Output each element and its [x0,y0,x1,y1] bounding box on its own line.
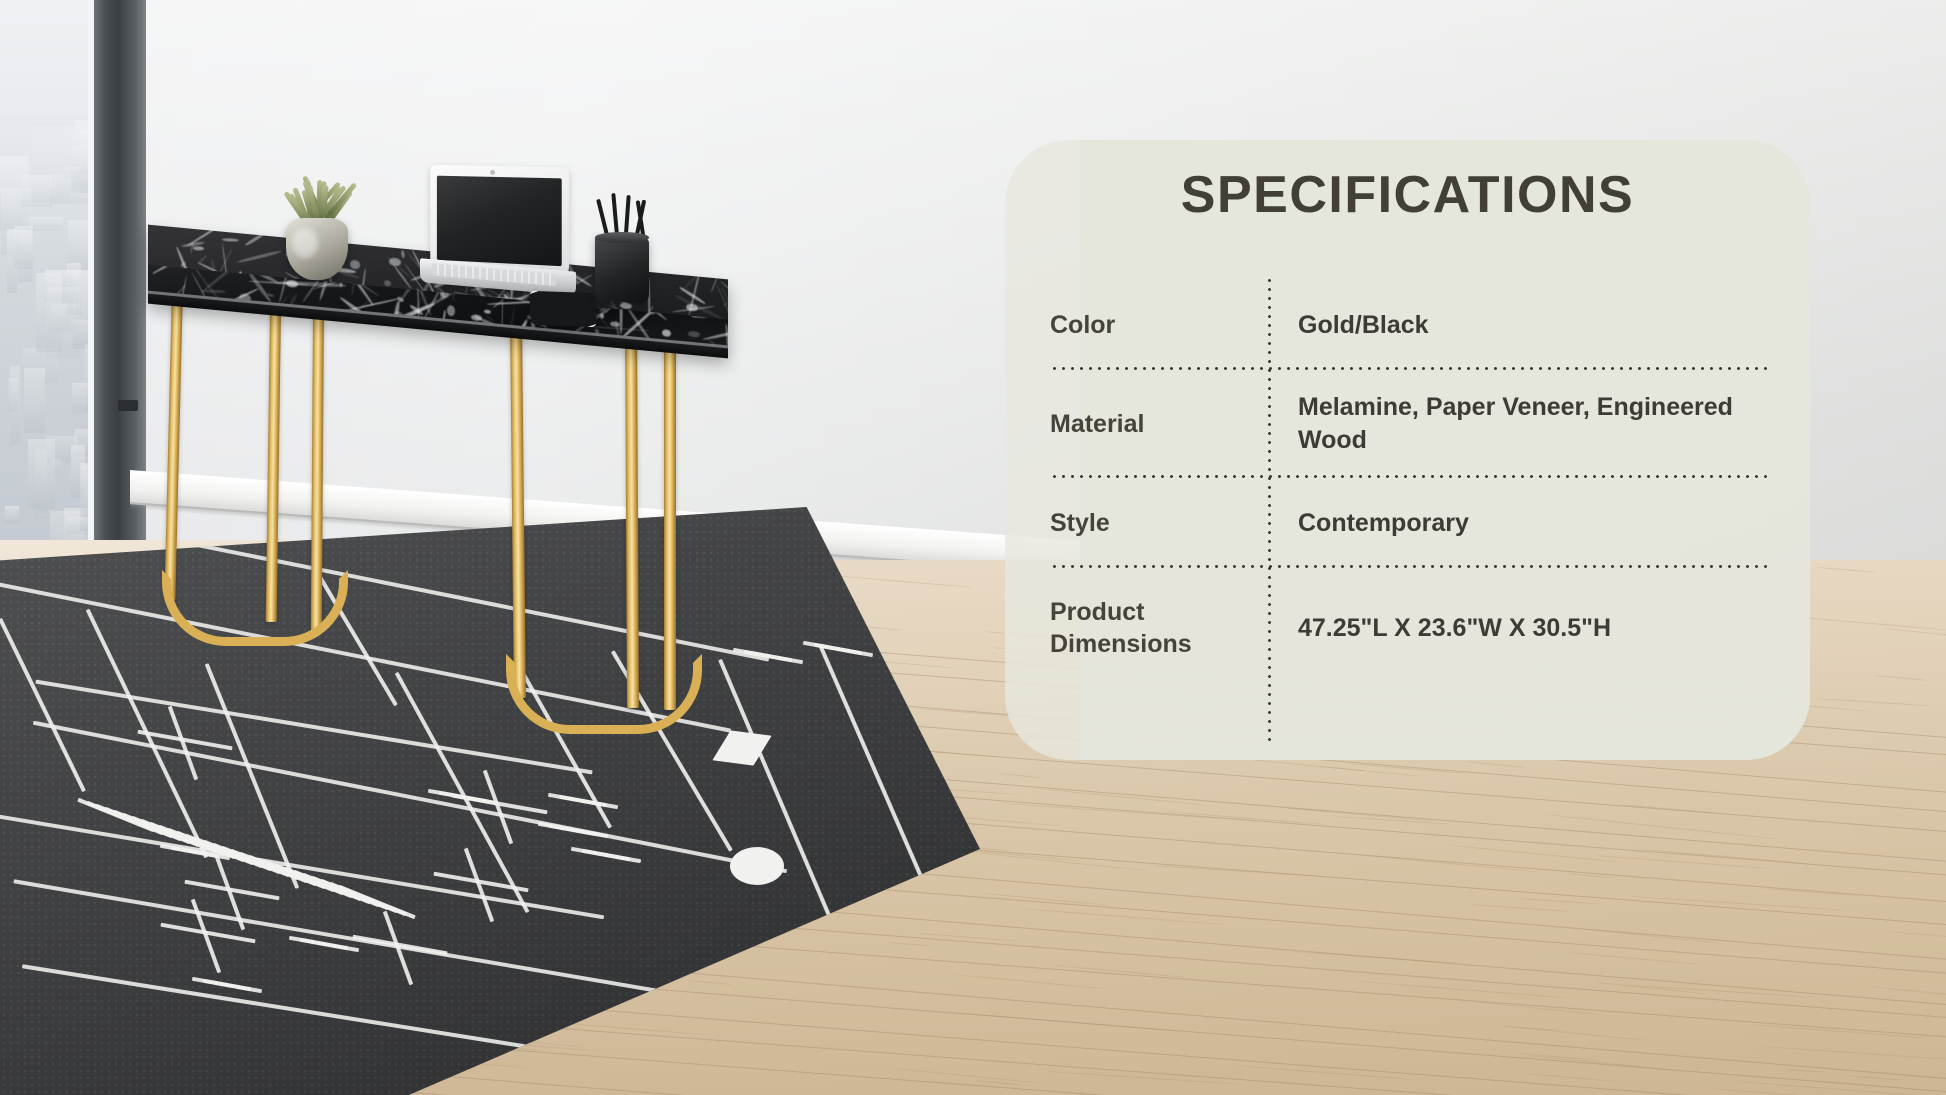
pot-highlight [292,228,318,258]
spec-key: Product Dimensions [1050,596,1268,660]
laptop [420,166,574,286]
specifications-table: Color Gold/Black Material Melamine, Pape… [1050,280,1770,688]
desk-leg [510,326,526,698]
desk-leg [625,312,639,708]
laptop-screen [437,176,562,267]
window-handle [118,400,138,411]
desk [140,230,760,710]
spec-value: Contemporary [1268,507,1770,540]
spec-value: Gold/Black [1268,309,1770,342]
spec-key: Color [1050,309,1268,341]
succulent-plant [284,158,352,226]
table-row: Color Gold/Black [1050,280,1770,370]
product-spec-image: SPECIFICATIONS Color Gold/Black Material… [0,0,1946,1095]
plant-pot [286,218,348,280]
spec-key: Style [1050,507,1268,539]
table-row: Material Melamine, Paper Veneer, Enginee… [1050,370,1770,478]
desk-sled-base [162,570,348,646]
spec-key: Material [1050,408,1268,440]
spec-value: Melamine, Paper Veneer, Engineered Wood [1268,391,1770,457]
desk-leg [164,302,182,600]
pen-cup-rim [595,232,649,243]
laptop-lid [430,165,569,274]
table-row: Product Dimensions 47.25"L X 23.6"W X 30… [1050,568,1770,688]
pen-cup [595,234,649,304]
spec-value: 47.25"L X 23.6"W X 30.5"H [1268,612,1770,645]
smartphone [529,291,597,327]
webcam-icon [490,170,495,175]
desk-leg [664,310,676,710]
desk-sled-base [506,654,702,734]
page-title: SPECIFICATIONS [1005,165,1810,225]
table-row: Style Contemporary [1050,478,1770,568]
